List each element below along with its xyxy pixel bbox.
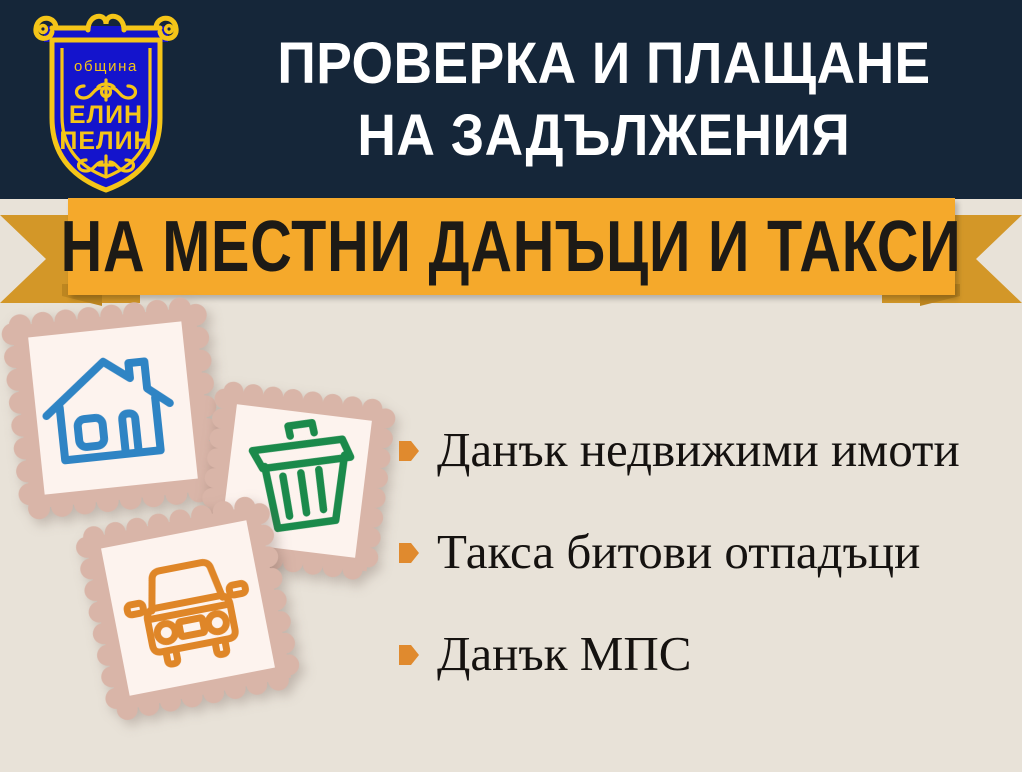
tax-types-list: Данък недвижими имоти Такса битови отпад… bbox=[398, 424, 1018, 680]
list-item: Данък недвижими имоти bbox=[398, 424, 1018, 476]
logo-pelin-text: ПЕЛИН bbox=[59, 127, 152, 155]
ribbon-band: НА МЕСТНИ ДАНЪЦИ И ТАКСИ bbox=[68, 198, 955, 295]
logo-obshtina-text: община bbox=[74, 58, 138, 75]
poster-canvas: община ЕЛИН ПЕЛИН bbox=[0, 0, 1022, 772]
municipality-logo: община ЕЛИН ПЕЛИН bbox=[26, 8, 186, 193]
list-item-label: Данък недвижими имоти bbox=[437, 424, 960, 476]
bullet-arrow-icon bbox=[398, 540, 420, 566]
list-item: Данък МПС bbox=[398, 628, 1018, 680]
ribbon-banner: НА МЕСТНИ ДАНЪЦИ И ТАКСИ bbox=[0, 198, 1022, 310]
page-title: ПРОВЕРКА И ПЛАЩАНЕ НА ЗАДЪЛЖЕНИЯ bbox=[186, 14, 1022, 186]
list-item-label: Такса битови отпадъци bbox=[437, 526, 920, 578]
title-line-2: НА ЗАДЪЛЖЕНИЯ bbox=[358, 101, 851, 171]
ribbon-text: НА МЕСТНИ ДАНЪЦИ И ТАКСИ bbox=[61, 210, 962, 284]
stamp-card-house bbox=[0, 293, 228, 524]
list-item-label: Данък МПС bbox=[437, 628, 691, 680]
logo-elin-text: ЕЛИН bbox=[69, 101, 143, 129]
bullet-arrow-icon bbox=[398, 642, 420, 668]
list-item: Такса битови отпадъци bbox=[398, 526, 1018, 578]
bullet-arrow-icon bbox=[398, 438, 420, 464]
title-line-1: ПРОВЕРКА И ПЛАЩАНЕ bbox=[277, 29, 930, 99]
stamp-card-car bbox=[71, 491, 305, 725]
coat-of-arms-icon: община ЕЛИН ПЕЛИН bbox=[26, 8, 186, 193]
stamp-cards-group bbox=[0, 300, 400, 772]
header-bar: община ЕЛИН ПЕЛИН bbox=[0, 0, 1022, 199]
